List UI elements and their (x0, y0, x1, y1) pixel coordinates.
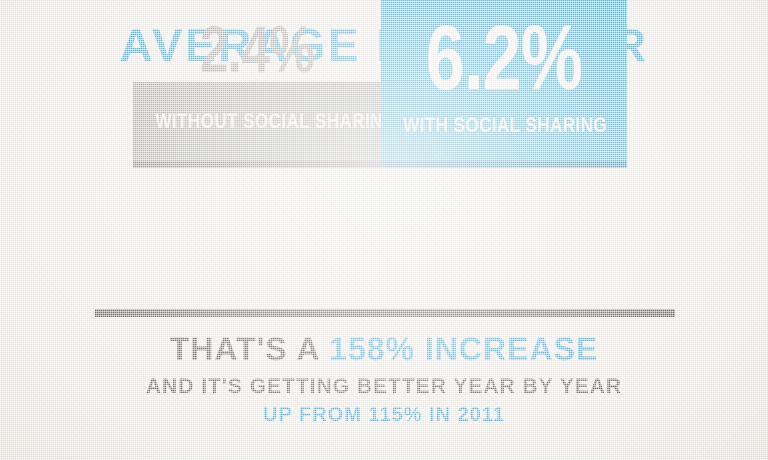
footer-headline: THAT'S A 158% INCREASE (0, 332, 768, 367)
bar-foot-blue (381, 161, 627, 168)
bar-label-without-social-sharing: WITHOUT SOCIAL SHARING (155, 111, 358, 132)
footer-subline: AND IT'S GETTING BETTER YEAR BY YEAR (0, 375, 768, 398)
footer-headline-prefix: THAT'S A (170, 331, 329, 367)
bar-chart: 2.4% WITHOUT SOCIAL SHARING 6.2% WITH SO… (0, 0, 768, 320)
bar-label-with-social-sharing: WITH SOCIAL SHARING (403, 115, 605, 136)
bar-value-without-social-sharing: 2.4% (160, 16, 353, 82)
bar-value-with-social-sharing: 6.2% (411, 12, 598, 104)
bar-with-social-sharing: 6.2% WITH SOCIAL SHARING (381, 0, 627, 168)
chart-baseline (95, 309, 675, 317)
bar-foot-gray (133, 161, 381, 168)
footer-headline-highlight: 158% INCREASE (329, 331, 598, 367)
footer-copy: THAT'S A 158% INCREASE AND IT'S GETTING … (0, 332, 768, 426)
footer-source-note: UP FROM 115% IN 2011 (0, 404, 768, 426)
bar-without-social-sharing: WITHOUT SOCIAL SHARING (133, 82, 381, 168)
infographic-canvas: AVERAGE EMAIL CTR 2.4% WITHOUT SOCIAL SH… (0, 0, 768, 460)
